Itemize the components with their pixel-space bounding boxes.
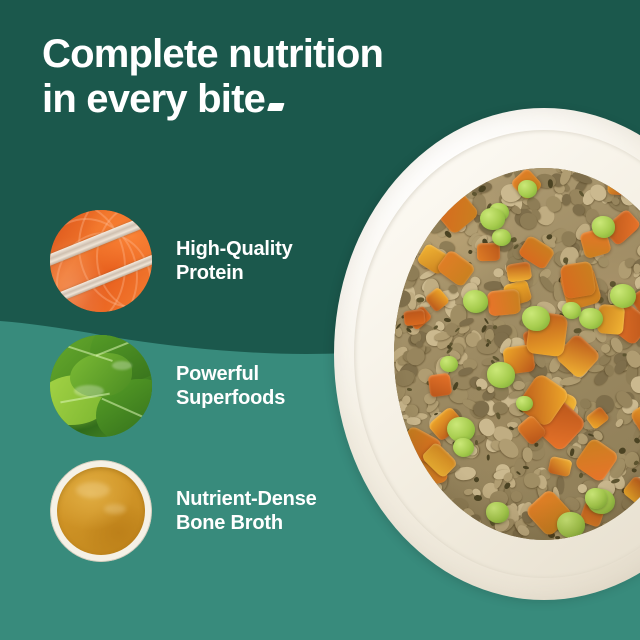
herb-fleck — [547, 179, 553, 188]
green-pea — [518, 180, 537, 197]
broth-foam — [76, 482, 110, 498]
green-pea — [453, 438, 474, 457]
green-pea — [522, 306, 549, 331]
headline-line-2-wrap: in every bite — [42, 77, 472, 122]
green-pea — [487, 362, 515, 387]
herb-fleck — [476, 386, 481, 390]
carrot-cube — [477, 243, 500, 262]
feature-item-bone-broth: Nutrient-Dense Bone Broth — [0, 448, 340, 573]
bone-broth-bowl-icon — [50, 460, 152, 562]
meat-crumble — [633, 263, 640, 274]
sweet-potato-cube — [608, 170, 632, 195]
green-pea — [557, 512, 585, 538]
spinach-gloss — [112, 361, 132, 370]
green-pea — [394, 205, 414, 226]
spinach-gloss — [74, 385, 104, 397]
meat-crumble — [493, 401, 508, 413]
bowl-food-area — [394, 168, 640, 540]
headline-line-1: Complete nutrition — [42, 32, 472, 77]
feature-label-superfoods: Powerful Superfoods — [176, 362, 285, 410]
green-pea — [440, 356, 458, 372]
feature-item-protein: High-Quality Protein — [0, 198, 340, 323]
meat-crumble — [553, 282, 562, 301]
period-wedge-icon — [267, 103, 285, 111]
carrot-cube — [428, 373, 453, 398]
green-pea — [585, 488, 608, 509]
broth-foam — [104, 504, 126, 514]
meat-crumble — [594, 530, 609, 540]
spinach-leaves-icon — [50, 335, 152, 437]
feature-label-protein: High-Quality Protein — [176, 237, 293, 285]
feature-list: High-Quality Protein Powerful Superfoods — [0, 198, 340, 573]
feature-item-superfoods: Powerful Superfoods — [0, 323, 340, 448]
broth-liquid — [57, 467, 145, 555]
nutrition-marketing-banner: Complete nutrition in every bite — [0, 0, 640, 640]
green-pea — [516, 396, 532, 411]
green-pea — [579, 308, 603, 330]
meat-crumble — [512, 381, 524, 391]
green-pea — [492, 229, 511, 246]
page-title: Complete nutrition in every bite — [42, 32, 472, 122]
salmon-fillet-icon — [50, 210, 152, 312]
herb-fleck — [474, 495, 482, 501]
green-pea — [486, 502, 508, 522]
headline: Complete nutrition in every bite — [42, 32, 472, 122]
feature-label-bone-broth: Nutrient-Dense Bone Broth — [176, 487, 317, 535]
herb-fleck — [445, 528, 454, 535]
green-pea — [397, 498, 417, 516]
green-pea — [463, 290, 488, 313]
green-pea — [562, 302, 581, 319]
pet-food-bowl — [334, 108, 640, 600]
headline-line-2: in every bite — [42, 77, 265, 121]
green-pea — [480, 208, 505, 231]
green-pea — [610, 284, 636, 308]
green-pea — [592, 216, 615, 238]
carrot-cube — [559, 260, 596, 299]
sweet-potato-cube — [487, 289, 521, 317]
